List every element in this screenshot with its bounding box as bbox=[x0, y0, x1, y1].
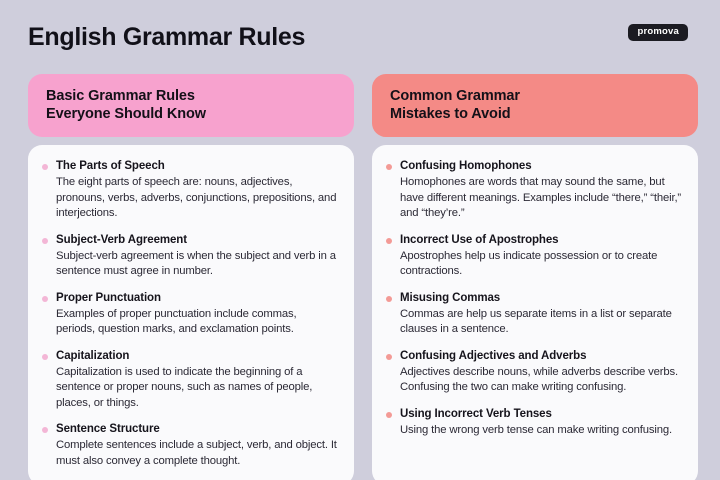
list-item-title: Incorrect Use of Apostrophes bbox=[400, 233, 682, 248]
bullet-dot-icon bbox=[386, 296, 392, 302]
list-item: Sentence Structure Complete sentences in… bbox=[42, 422, 338, 469]
list-item-title: Sentence Structure bbox=[56, 422, 338, 437]
column-header-basic-line2: Everyone Should Know bbox=[46, 105, 336, 123]
promova-logo-badge: promova bbox=[628, 24, 688, 41]
bullet-dot-icon bbox=[386, 238, 392, 244]
list-item: The Parts of Speech The eight parts of s… bbox=[42, 159, 338, 222]
header-bar: English Grammar Rules promova bbox=[28, 22, 698, 62]
list-item-body: Confusing Homophones Homophones are word… bbox=[400, 159, 682, 222]
list-item-body: Misusing Commas Commas are help us separ… bbox=[400, 291, 682, 338]
bullet-dot-icon bbox=[386, 354, 392, 360]
columns-container: Basic Grammar Rules Everyone Should Know… bbox=[28, 74, 698, 480]
list-item-body: The Parts of Speech The eight parts of s… bbox=[56, 159, 338, 222]
list-item: Capitalization Capitalization is used to… bbox=[42, 349, 338, 412]
list-item: Confusing Homophones Homophones are word… bbox=[386, 159, 682, 222]
column-header-common-line2: Mistakes to Avoid bbox=[390, 105, 680, 123]
list-item-title: The Parts of Speech bbox=[56, 159, 338, 174]
list-item-text: Apostrophes help us indicate possession … bbox=[400, 249, 682, 280]
column-header-common-line1: Common Grammar bbox=[390, 87, 680, 105]
list-item-text: Subject-verb agreement is when the subje… bbox=[56, 249, 338, 280]
column-common-grammar-mistakes: Common Grammar Mistakes to Avoid Confusi… bbox=[372, 74, 698, 480]
bullet-dot-icon bbox=[386, 412, 392, 418]
list-item-body: Proper Punctuation Examples of proper pu… bbox=[56, 291, 338, 338]
bullet-dot-icon bbox=[42, 354, 48, 360]
bullet-dot-icon bbox=[42, 164, 48, 170]
list-item-title: Confusing Adjectives and Adverbs bbox=[400, 349, 682, 364]
list-item-text: Complete sentences include a subject, ve… bbox=[56, 438, 338, 469]
list-item: Misusing Commas Commas are help us separ… bbox=[386, 291, 682, 338]
list-item-title: Proper Punctuation bbox=[56, 291, 338, 306]
list-item: Incorrect Use of Apostrophes Apostrophes… bbox=[386, 233, 682, 280]
list-item-body: Capitalization Capitalization is used to… bbox=[56, 349, 338, 412]
list-item-body: Incorrect Use of Apostrophes Apostrophes… bbox=[400, 233, 682, 280]
list-item-title: Capitalization bbox=[56, 349, 338, 364]
list-item-text: The eight parts of speech are: nouns, ad… bbox=[56, 175, 338, 222]
card-basic-grammar-rules: The Parts of Speech The eight parts of s… bbox=[28, 145, 354, 480]
list-item: Subject-Verb Agreement Subject-verb agre… bbox=[42, 233, 338, 280]
list-item-text: Examples of proper punctuation include c… bbox=[56, 307, 338, 338]
list-item-text: Using the wrong verb tense can make writ… bbox=[400, 423, 682, 439]
bullet-dot-icon bbox=[42, 427, 48, 433]
list-item-title: Confusing Homophones bbox=[400, 159, 682, 174]
list-item-title: Using Incorrect Verb Tenses bbox=[400, 407, 682, 422]
list-item-body: Using Incorrect Verb Tenses Using the wr… bbox=[400, 407, 682, 439]
list-item: Using Incorrect Verb Tenses Using the wr… bbox=[386, 407, 682, 439]
bullet-dot-icon bbox=[42, 296, 48, 302]
list-item-text: Commas are help us separate items in a l… bbox=[400, 307, 682, 338]
column-header-common: Common Grammar Mistakes to Avoid bbox=[372, 74, 698, 137]
list-item-body: Subject-Verb Agreement Subject-verb agre… bbox=[56, 233, 338, 280]
list-item-title: Subject-Verb Agreement bbox=[56, 233, 338, 248]
list-item-text: Homophones are words that may sound the … bbox=[400, 175, 682, 222]
list-item-title: Misusing Commas bbox=[400, 291, 682, 306]
list-item-body: Sentence Structure Complete sentences in… bbox=[56, 422, 338, 469]
column-header-basic: Basic Grammar Rules Everyone Should Know bbox=[28, 74, 354, 137]
column-basic-grammar-rules: Basic Grammar Rules Everyone Should Know… bbox=[28, 74, 354, 480]
list-item-text: Capitalization is used to indicate the b… bbox=[56, 365, 338, 412]
list-item: Proper Punctuation Examples of proper pu… bbox=[42, 291, 338, 338]
list-item: Confusing Adjectives and Adverbs Adjecti… bbox=[386, 349, 682, 396]
card-common-grammar-mistakes: Confusing Homophones Homophones are word… bbox=[372, 145, 698, 480]
column-header-basic-line1: Basic Grammar Rules bbox=[46, 87, 336, 105]
list-item-text: Adjectives describe nouns, while adverbs… bbox=[400, 365, 682, 396]
infographic-page: English Grammar Rules promova Basic Gram… bbox=[0, 0, 720, 480]
bullet-dot-icon bbox=[42, 238, 48, 244]
bullet-dot-icon bbox=[386, 164, 392, 170]
page-title: English Grammar Rules bbox=[28, 22, 698, 52]
list-item-body: Confusing Adjectives and Adverbs Adjecti… bbox=[400, 349, 682, 396]
